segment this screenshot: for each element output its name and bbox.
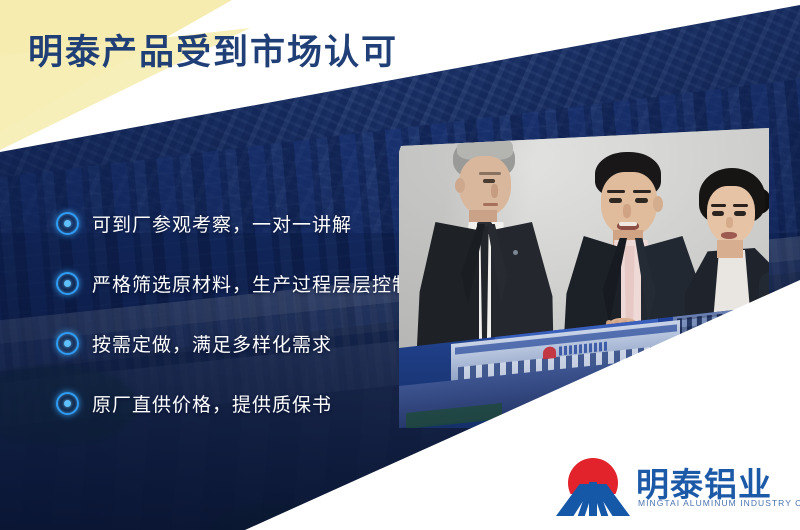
feature-list: 可到厂参观考察，一对一讲解 严格筛选原材料，生产过程层层控制 按需定做，满足多样… xyxy=(56,208,416,448)
nose xyxy=(726,217,733,228)
eyebrow xyxy=(479,172,501,175)
feature-text: 严格筛选原材料，生产过程层层控制 xyxy=(92,270,412,297)
eyebrow xyxy=(633,190,651,193)
list-item: 按需定做，满足多样化需求 xyxy=(56,328,416,358)
nose xyxy=(491,184,498,198)
ear xyxy=(653,196,663,212)
company-name-en: MINGTAI ALUMINUM INDUSTRY CO., LTD xyxy=(638,498,800,508)
eyebrow xyxy=(607,190,625,193)
face xyxy=(459,156,511,216)
list-item: 可到厂参观考察，一对一讲解 xyxy=(56,208,416,238)
feature-text: 原厂直供价格，提供质保书 xyxy=(92,390,332,417)
feature-text: 按需定做，满足多样化需求 xyxy=(92,330,332,357)
eye xyxy=(483,179,495,183)
inset-logo-mark xyxy=(543,345,556,358)
ear xyxy=(455,178,465,193)
mingtai-sun-mountain-icon xyxy=(556,458,630,516)
nose xyxy=(623,204,631,218)
eye xyxy=(712,211,724,216)
inset-logo-text xyxy=(559,342,607,356)
mouth xyxy=(483,203,498,206)
eyebrow xyxy=(733,204,748,207)
feature-text: 可到厂参观考察，一对一讲解 xyxy=(92,210,352,237)
eyebrow xyxy=(711,204,726,207)
eye xyxy=(734,211,746,216)
list-item: 原厂直供价格，提供质保书 xyxy=(56,388,416,418)
target-circle-icon xyxy=(56,332,79,355)
promo-banner: 明泰产品受到市场认可 可到厂参观考察，一对一讲解 严格筛选原材料，生产过程层层控… xyxy=(0,0,800,530)
list-item: 严格筛选原材料，生产过程层层控制 xyxy=(56,268,416,298)
mouth xyxy=(721,232,737,239)
lapel-pin xyxy=(513,250,518,255)
company-logo: 明泰铝业 MINGTAI ALUMINUM INDUSTRY CO., LTD xyxy=(556,456,792,522)
eye xyxy=(635,198,648,203)
teeth xyxy=(619,222,637,226)
target-circle-icon xyxy=(56,212,79,235)
target-circle-icon xyxy=(56,392,79,415)
logo-cross-bar xyxy=(582,484,604,490)
page-title: 明泰产品受到市场认可 xyxy=(28,24,398,75)
eye xyxy=(609,198,622,203)
target-circle-icon xyxy=(56,272,79,295)
neck xyxy=(717,240,743,258)
